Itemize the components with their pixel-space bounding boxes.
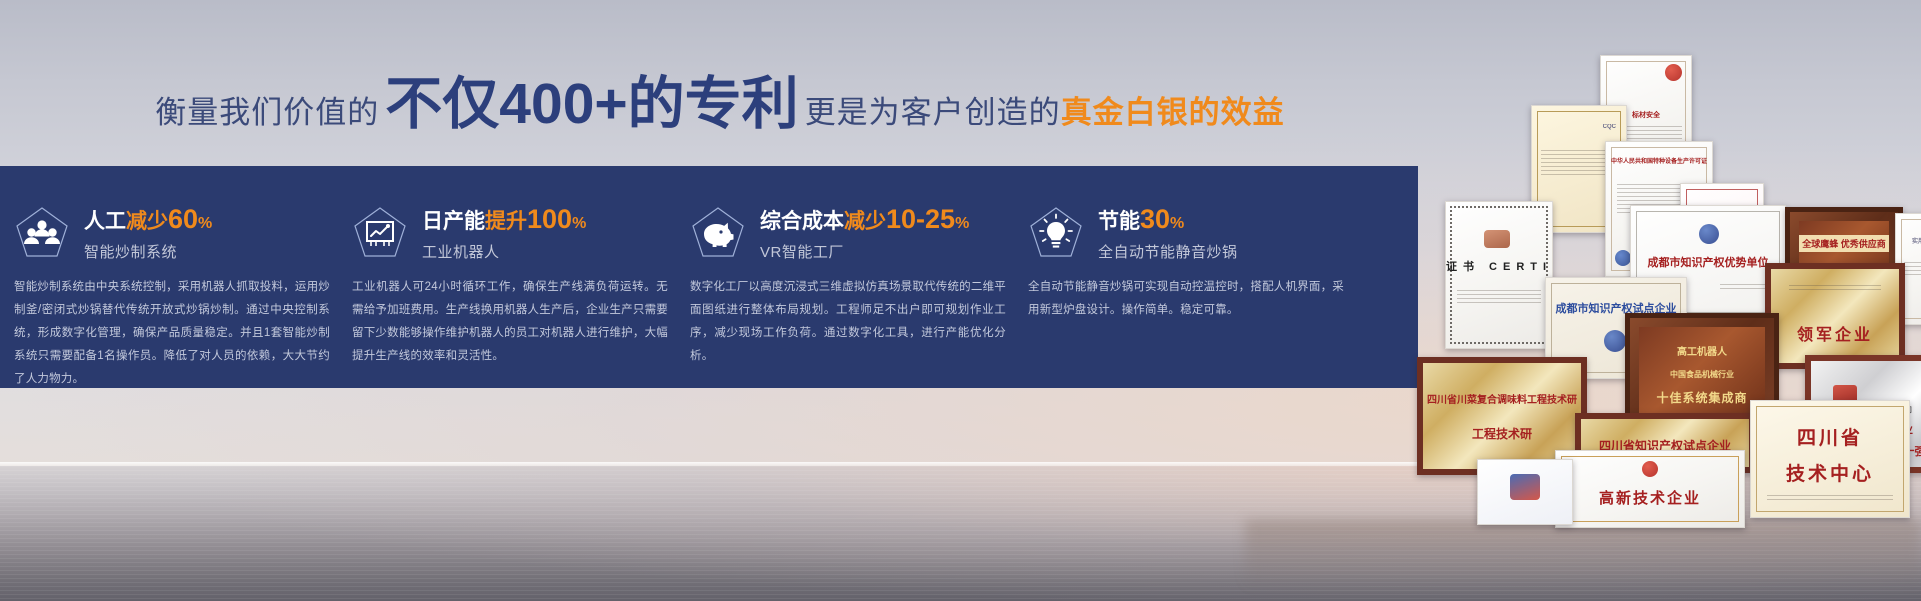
feature-title-accent: 减少 [844, 210, 886, 233]
feature-titles: 综合成本减少10-25% VR智能工厂 [760, 204, 969, 261]
feature-subtitle: 全自动节能静音炒锅 [1098, 241, 1238, 262]
feature-title-number: 60 [168, 204, 198, 234]
feature-body: 智能炒制系统由中央系统控制，采用机器人抓取投料，运用炒制釜/密闭式炒锅替代传统开… [14, 276, 330, 391]
feature-item-3[interactable]: 综合成本减少10-25% VR智能工厂 数字化工厂以高度沉浸式三维虚拟仿真场景取… [690, 166, 1028, 388]
feature-title: 人工减少60% [84, 204, 212, 235]
certificate-label: CQC [1603, 124, 1616, 130]
lightbulb-icon [1028, 205, 1084, 261]
certificate-label: 高新技术企业 [1556, 487, 1744, 508]
feature-title-number: 10-25 [886, 204, 955, 234]
feature-titles: 节能30% 全自动节能静音炒锅 [1098, 204, 1238, 261]
feature-title-prefix: 节能 [1098, 210, 1140, 233]
feature-title-accent: 提升 [485, 210, 527, 233]
headline-emphasis: 不仅400+的专利 [385, 76, 798, 133]
certificate-label: 四川省川菜复合调味料工程技术研 [1423, 391, 1581, 406]
feature-title-accent: 减少 [126, 210, 168, 233]
certificate-item: 高新技术企业 [1555, 450, 1745, 528]
page-headline: 衡量我们价值的 不仅400+的专利 更是为客户创造的 真金白银的效益 [0, 76, 1440, 138]
headline-middle: 更是为客户创造的 [805, 87, 1061, 132]
feature-item-2[interactable]: 日产能提升100% 工业机器人 工业机器人可24小时循环工作，确保生产线满负荷运… [352, 166, 690, 388]
feature-subtitle: 工业机器人 [422, 241, 586, 262]
feature-title-prefix: 日产能 [422, 210, 485, 233]
feature-title-number: 30 [1140, 204, 1170, 234]
feature-header: 人工减少60% 智能炒制系统 [14, 166, 330, 262]
certificate-label: 全球鹰蜂 优秀供应商 [1799, 235, 1889, 252]
chart-monitor-icon [352, 205, 408, 261]
feature-title-unit: % [1170, 215, 1184, 232]
feature-title-number: 100 [527, 204, 572, 234]
feature-panel: 人工减少60% 智能炒制系统 智能炒制系统由中央系统控制，采用机器人抓取投料，运… [0, 166, 1418, 388]
feature-list: 人工减少60% 智能炒制系统 智能炒制系统由中央系统控制，采用机器人抓取投料，运… [0, 166, 1418, 388]
certificate-reflection [1245, 520, 1921, 590]
certificate-label: 实用新型专利证书 [1896, 236, 1921, 245]
feature-subtitle: VR智能工厂 [760, 241, 969, 262]
certificate-label: 成都市知识产权优势单位 [1631, 254, 1785, 270]
certificate-item [1477, 459, 1573, 525]
certificate-label: 证书 CERTIFICATE [1446, 258, 1552, 274]
certificate-item: 四川省 技术中心 [1750, 400, 1910, 518]
feature-title-unit: % [198, 215, 212, 232]
feature-title-unit: % [572, 215, 586, 232]
feature-subtitle: 智能炒制系统 [84, 241, 212, 262]
feature-titles: 人工减少60% 智能炒制系统 [84, 204, 212, 261]
certificate-label: 领军企业 [1771, 321, 1899, 345]
feature-title: 综合成本减少10-25% [760, 204, 969, 235]
feature-title: 节能30% [1098, 204, 1238, 235]
certificate-pile: 标材安全 CQC 中华人民共和国特种设备生产许可证 荣 证书 CERTIFICA… [1245, 55, 1921, 525]
feature-titles: 日产能提升100% 工业机器人 [422, 204, 586, 261]
feature-title-prefix: 人工 [84, 210, 126, 233]
feature-body: 数字化工厂以高度沉浸式三维虚拟仿真场景取代传统的二维平面图纸进行整体布局规划。工… [690, 276, 1006, 368]
feature-body: 工业机器人可24小时循环工作，确保生产线满负荷运转。无需给予加班费用。生产线换用… [352, 276, 668, 368]
certificate-item: 领军企业 [1765, 263, 1905, 369]
headline-lead: 衡量我们价值的 [155, 87, 379, 132]
people-group-icon [14, 205, 70, 261]
feature-title-prefix: 综合成本 [760, 210, 844, 233]
certificate-item: 证书 CERTIFICATE [1445, 201, 1553, 349]
feature-title: 日产能提升100% [422, 204, 586, 235]
piggy-bank-icon [690, 205, 746, 261]
feature-title-unit: % [955, 215, 969, 232]
feature-item-1[interactable]: 人工减少60% 智能炒制系统 智能炒制系统由中央系统控制，采用机器人抓取投料，运… [14, 166, 352, 388]
certificate-label: 中华人民共和国特种设备生产许可证 [1606, 156, 1712, 165]
feature-header: 日产能提升100% 工业机器人 [352, 166, 668, 262]
feature-header: 综合成本减少10-25% VR智能工厂 [690, 166, 1006, 262]
